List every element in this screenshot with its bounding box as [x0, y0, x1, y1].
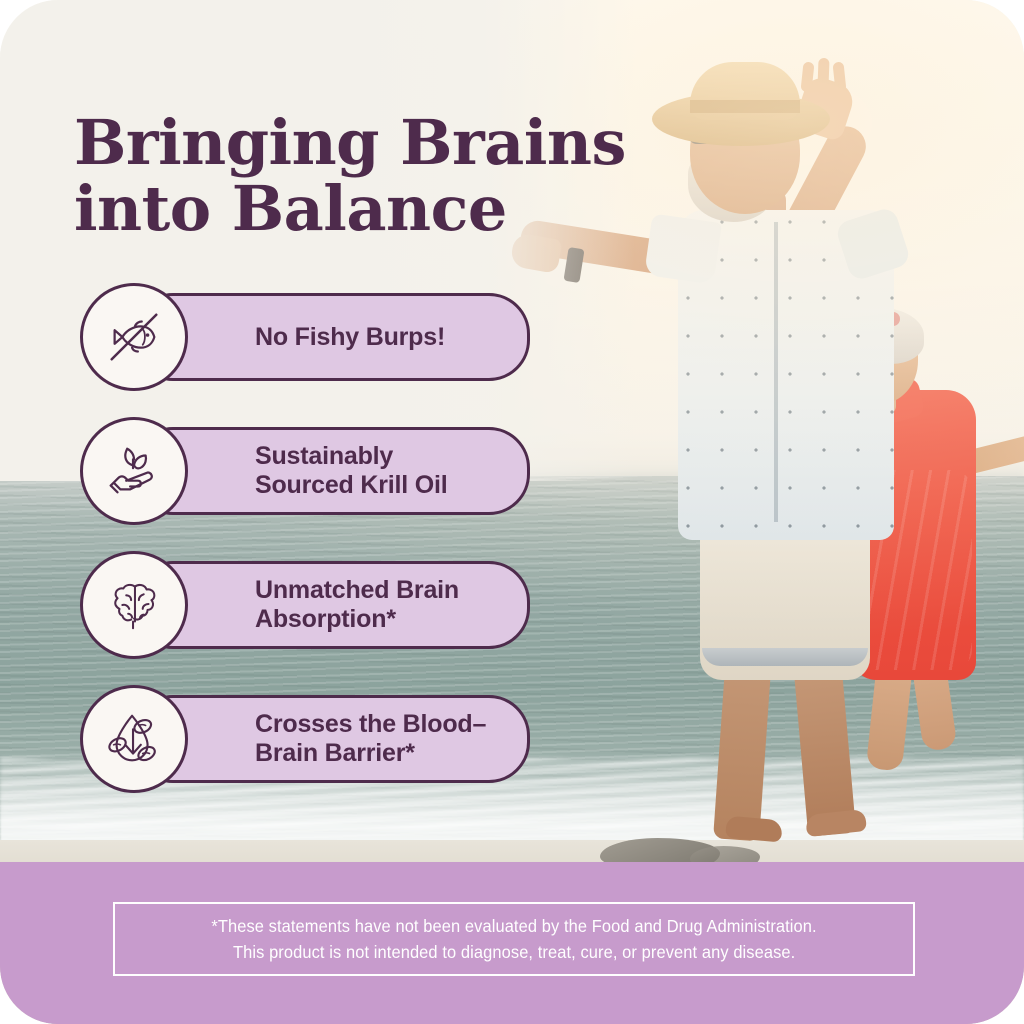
page-title: Bringing Brains into Balance	[74, 110, 674, 244]
feature-label-line-1: No Fishy Burps!	[255, 323, 445, 351]
feature-list: No Fishy Burps! Sustainably	[80, 283, 530, 819]
disclaimer-box: *These statements have not been evaluate…	[113, 902, 915, 976]
feature-pill: Unmatched Brain Absorption*	[132, 561, 530, 649]
man-finger	[817, 58, 829, 88]
no-fish-icon	[80, 283, 188, 391]
feature-pill: Sustainably Sourced Krill Oil	[132, 427, 530, 515]
feature-item-sustainably-sourced[interactable]: Sustainably Sourced Krill Oil	[80, 417, 530, 519]
feature-label: Crosses the Blood– Brain Barrier*	[255, 710, 486, 768]
droplet-arrow-blood-cells-icon	[80, 685, 188, 793]
feature-label-line-1: Sustainably	[255, 442, 393, 470]
man-hat-band	[690, 100, 800, 113]
feature-label: No Fishy Burps!	[255, 323, 445, 352]
promo-card: Bringing Brains into Balance No Fishy Bu…	[0, 0, 1024, 1024]
feature-label: Sustainably Sourced Krill Oil	[255, 442, 447, 500]
feature-label: Unmatched Brain Absorption*	[255, 576, 459, 634]
man-shirt-placket	[774, 222, 778, 522]
feature-label-line-2: Brain Barrier*	[255, 739, 415, 767]
headline-line-1: Bringing Brains	[74, 106, 626, 179]
feature-item-no-fishy-burps[interactable]: No Fishy Burps!	[80, 283, 530, 385]
man-shorts-cuff	[702, 648, 868, 666]
disclaimer-line-1: *These statements have not been evaluate…	[211, 913, 816, 939]
disclaimer-line-2: This product is not intended to diagnose…	[233, 939, 795, 965]
feature-pill: Crosses the Blood– Brain Barrier*	[132, 695, 530, 783]
feature-label-line-1: Crosses the Blood–	[255, 710, 486, 738]
disclaimer-band: *These statements have not been evaluate…	[0, 862, 1024, 1024]
feature-item-blood-brain-barrier[interactable]: Crosses the Blood– Brain Barrier*	[80, 685, 530, 787]
feature-item-brain-absorption[interactable]: Unmatched Brain Absorption*	[80, 551, 530, 653]
feature-label-line-1: Unmatched Brain	[255, 576, 459, 604]
headline-line-2: into Balance	[74, 176, 674, 243]
feature-pill: No Fishy Burps!	[132, 293, 530, 381]
feature-label-line-2: Sourced Krill Oil	[255, 471, 447, 499]
feature-label-line-2: Absorption*	[255, 605, 396, 633]
hand-holding-leaf-icon	[80, 417, 188, 525]
brain-icon	[80, 551, 188, 659]
